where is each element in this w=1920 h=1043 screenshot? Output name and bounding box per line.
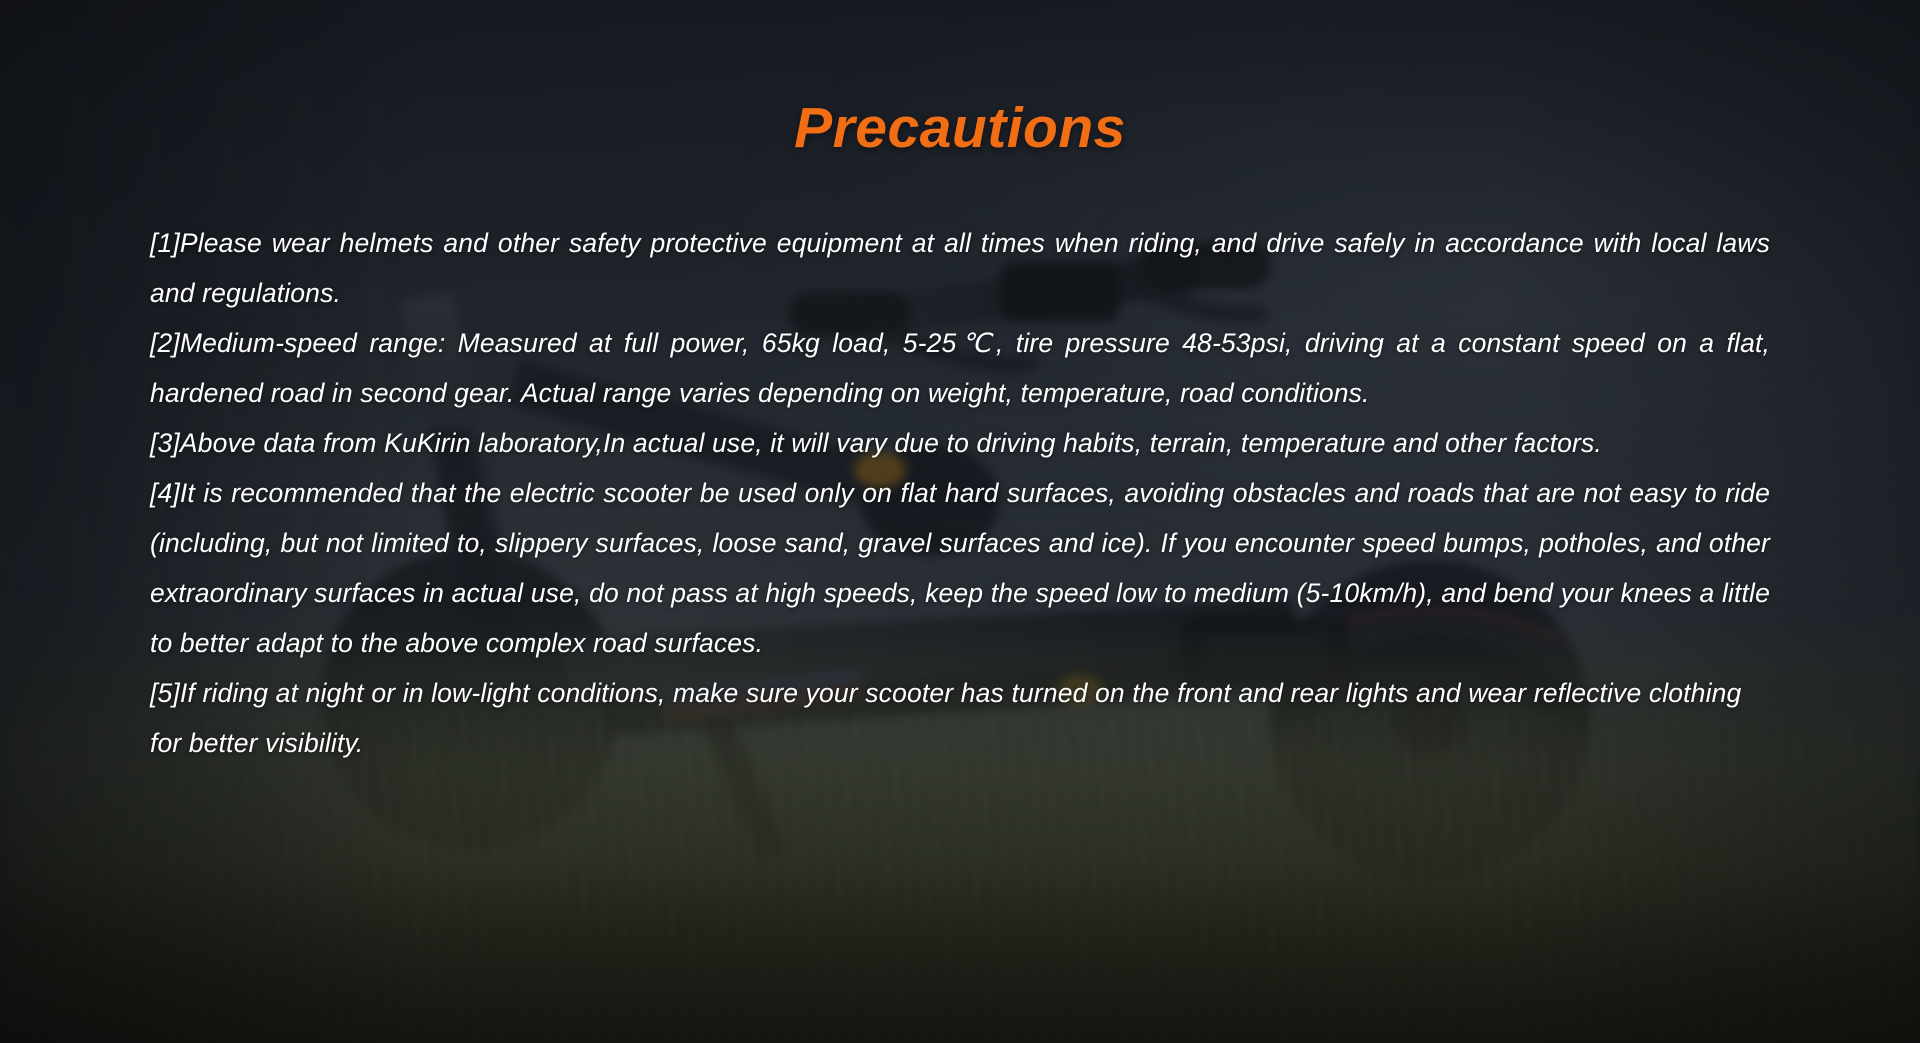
precautions-slide: Precautions [1]Please wear helmets and o… bbox=[0, 0, 1920, 1043]
precaution-item-1: [1]Please wear helmets and other safety … bbox=[150, 218, 1770, 318]
slide-content: Precautions [1]Please wear helmets and o… bbox=[0, 0, 1920, 1043]
precaution-item-3: [3]Above data from KuKirin laboratory,In… bbox=[150, 418, 1770, 468]
page-title: Precautions bbox=[0, 95, 1920, 161]
precaution-item-5: [5]If riding at night or in low-light co… bbox=[150, 668, 1770, 768]
precaution-item-2: [2]Medium-speed range: Measured at full … bbox=[150, 318, 1770, 418]
precautions-list: [1]Please wear helmets and other safety … bbox=[150, 218, 1770, 768]
precaution-item-4: [4]It is recommended that the electric s… bbox=[150, 468, 1770, 668]
